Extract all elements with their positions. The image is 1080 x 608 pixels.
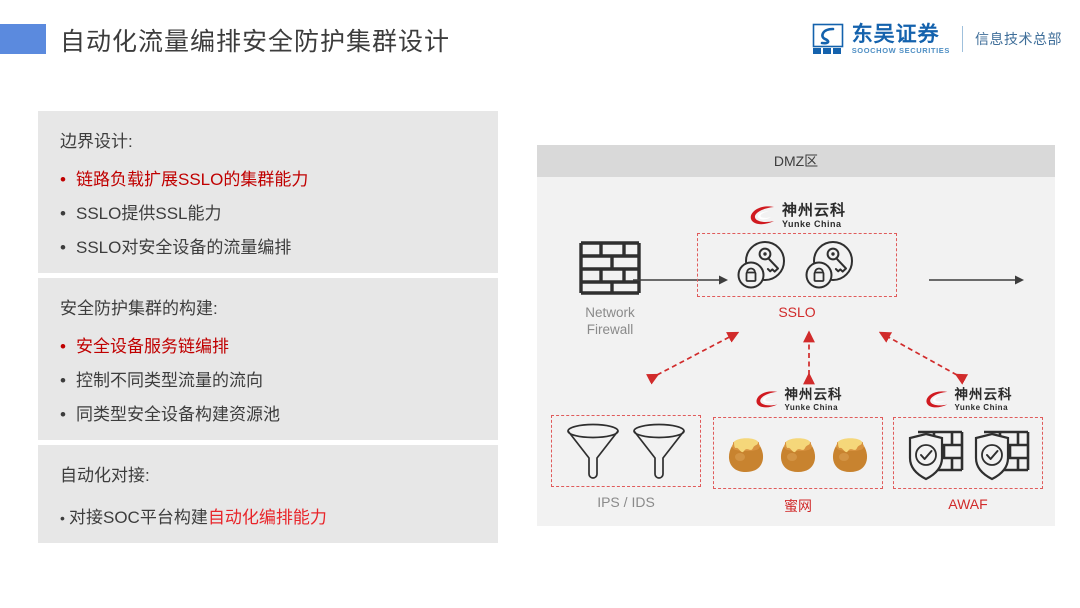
title-accent-bar (0, 24, 46, 54)
vendor-name-en: Yunke China (955, 404, 1013, 412)
yunke-swoosh-icon (924, 390, 950, 410)
soochow-securities-logo-icon (813, 24, 843, 54)
vendor-logo-yunke-china: 神州云科 Yunke China (697, 199, 897, 233)
honey-pot-icon (777, 430, 819, 476)
bullet-dot-icon: • (60, 338, 76, 355)
node-ips-ids: IPS / IDS (551, 415, 701, 510)
list-item: • 对接SOC平台构建自动化编排能力 (38, 490, 498, 528)
bullet-dot-icon: • (60, 511, 69, 525)
list-item: • 安全设备服务链编排 (38, 323, 498, 357)
brand-divider (962, 26, 963, 52)
bullet-text-emphasis: 自动化编排能力 (208, 508, 327, 527)
vendor-name-en: Yunke China (782, 220, 846, 229)
node-honeynet: 神州云科 Yunke China (713, 383, 883, 516)
bullet-text: 同类型安全设备构建资源池 (76, 400, 498, 425)
dmz-zone-title: DMZ区 (774, 151, 818, 171)
vendor-name-cn: 神州云科 (785, 388, 843, 402)
bullet-text: 控制不同类型流量的流向 (76, 366, 498, 391)
bullet-text: SSLO对安全设备的流量编排 (76, 233, 498, 258)
content-panel-list: 边界设计: • 链路负载扩展SSLO的集群能力 • SSLO提供SSL能力 • … (38, 111, 498, 548)
node-awaf: 神州云科 Yunke China (893, 383, 1043, 512)
bullet-text: SSLO提供SSL能力 (76, 199, 498, 224)
panel-boundary-design: 边界设计: • 链路负载扩展SSLO的集群能力 • SSLO提供SSL能力 • … (38, 111, 498, 273)
yunke-swoosh-icon (748, 205, 777, 227)
list-item: • 控制不同类型流量的流向 (38, 357, 498, 391)
brand-name-cn: 东吴证券 (852, 24, 950, 45)
node-label: 蜜网 (713, 496, 883, 516)
bullet-text: 安全设备服务链编排 (76, 332, 498, 357)
node-network-firewall: Network Firewall (555, 239, 665, 339)
node-label-line1: Network (555, 305, 665, 322)
security-node-row: IPS / IDS 神州云科 Yunke China (537, 383, 1055, 523)
bullet-text-plain: 对接SOC平台构建 (69, 508, 208, 527)
diagram-body: Network Firewall 神州云科 (537, 177, 1055, 526)
node-label: IPS / IDS (551, 494, 701, 510)
bullet-dot-icon: • (60, 406, 76, 423)
vendor-logo-yunke-china: 神州云科 Yunke China (713, 383, 883, 417)
vendor-name-en: Yunke China (785, 404, 843, 412)
brand-lockup: 东吴证券 SOOCHOW SECURITIES 信息技术总部 (813, 22, 1062, 56)
node-sslo: 神州云科 Yunke China (697, 199, 897, 320)
panel-automation-integration: 自动化对接: • 对接SOC平台构建自动化编排能力 (38, 445, 498, 543)
bullet-dot-icon: • (60, 171, 76, 188)
node-label: AWAF (893, 496, 1043, 512)
brand-name-en: SOOCHOW SECURITIES (852, 47, 950, 55)
panel-heading: 自动化对接: (38, 459, 498, 490)
honey-pot-icon (725, 430, 767, 476)
awaf-device-group (893, 417, 1043, 489)
list-item: • SSLO提供SSL能力 (38, 190, 498, 224)
egress-arrow-icon (929, 274, 1025, 286)
key-lock-icon (804, 239, 858, 291)
panel-security-cluster: 安全防护集群的构建: • 安全设备服务链编排 • 控制不同类型流量的流向 • 同… (38, 278, 498, 440)
funnel-icon (629, 422, 689, 480)
key-lock-icon (736, 239, 790, 291)
honeynet-device-group (713, 417, 883, 489)
page-title: 自动化流量编排安全防护集群设计 (60, 22, 450, 58)
list-item: • 同类型安全设备构建资源池 (38, 391, 498, 425)
bullet-list: • 对接SOC平台构建自动化编排能力 (38, 490, 498, 528)
shield-brick-wall-icon (904, 424, 966, 482)
panel-heading: 安全防护集群的构建: (38, 292, 498, 323)
bullet-dot-icon: • (60, 239, 76, 256)
bullet-text: 对接SOC平台构建自动化编排能力 (69, 503, 498, 528)
sslo-connector-arrows (537, 327, 1055, 389)
vendor-name-cn: 神州云科 (782, 203, 846, 218)
bullet-dot-icon: • (60, 205, 76, 222)
sslo-device-group (697, 233, 897, 297)
shield-brick-wall-icon (970, 424, 1032, 482)
bullet-dot-icon: • (60, 372, 76, 389)
honey-pot-icon (829, 430, 871, 476)
brick-wall-icon (555, 239, 665, 295)
bullet-text: 链路负载扩展SSLO的集群能力 (76, 165, 498, 190)
list-item: • 链路负载扩展SSLO的集群能力 (38, 156, 498, 190)
vendor-logo-yunke-china: 神州云科 Yunke China (893, 383, 1043, 417)
dmz-zone-header: DMZ区 (537, 145, 1055, 177)
list-item: • SSLO对安全设备的流量编排 (38, 224, 498, 258)
brand-department: 信息技术总部 (975, 29, 1062, 49)
node-label: SSLO (697, 304, 897, 320)
ips-ids-device-group (551, 415, 701, 487)
panel-heading: 边界设计: (38, 125, 498, 156)
bullet-list: • 链路负载扩展SSLO的集群能力 • SSLO提供SSL能力 • SSLO对安… (38, 156, 498, 258)
funnel-icon (563, 422, 623, 480)
bullet-list: • 安全设备服务链编排 • 控制不同类型流量的流向 • 同类型安全设备构建资源池 (38, 323, 498, 425)
vendor-name-cn: 神州云科 (955, 388, 1013, 402)
architecture-diagram: DMZ区 (537, 145, 1055, 526)
yunke-swoosh-icon (754, 390, 780, 410)
